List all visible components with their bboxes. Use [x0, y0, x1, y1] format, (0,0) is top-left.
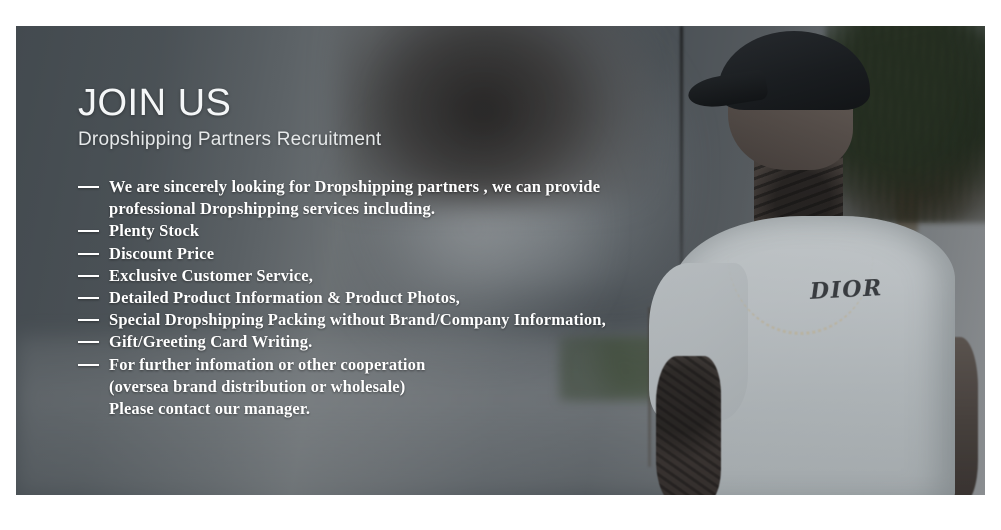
- list-item: Exclusive Customer Service,: [78, 265, 778, 287]
- benefits-list: We are sincerely looking for Dropshippin…: [78, 176, 778, 420]
- list-item-text: Gift/Greeting Card Writing.: [109, 332, 312, 351]
- list-item: We are sincerely looking for Dropshippin…: [78, 176, 778, 220]
- list-item-text: Plenty Stock: [109, 221, 199, 240]
- list-item: Discount Price: [78, 243, 778, 265]
- list-item-text: Detailed Product Information & Product P…: [109, 288, 460, 307]
- list-item: Plenty Stock: [78, 220, 778, 242]
- promo-banner-image: DIOR JOIN US Dropshipping Partners Recru…: [16, 26, 985, 495]
- banner-copy: JOIN US Dropshipping Partners Recruitmen…: [78, 82, 778, 420]
- list-item-text: Discount Price: [109, 244, 214, 263]
- list-item-text: We are sincerely looking for Dropshippin…: [109, 177, 600, 218]
- list-item: For further infomation or other cooperat…: [78, 354, 778, 421]
- list-item: Special Dropshipping Packing without Bra…: [78, 309, 778, 331]
- list-item-text: For further infomation or other cooperat…: [109, 355, 425, 418]
- list-item: Detailed Product Information & Product P…: [78, 287, 778, 309]
- banner-subtitle: Dropshipping Partners Recruitment: [78, 128, 778, 152]
- banner-title: JOIN US: [78, 82, 778, 124]
- dior-shirt-print: DIOR: [810, 275, 884, 305]
- list-item-text: Special Dropshipping Packing without Bra…: [109, 310, 606, 329]
- list-item-text: Exclusive Customer Service,: [109, 266, 313, 285]
- list-item: Gift/Greeting Card Writing.: [78, 331, 778, 353]
- page-canvas: DIOR JOIN US Dropshipping Partners Recru…: [0, 0, 1001, 530]
